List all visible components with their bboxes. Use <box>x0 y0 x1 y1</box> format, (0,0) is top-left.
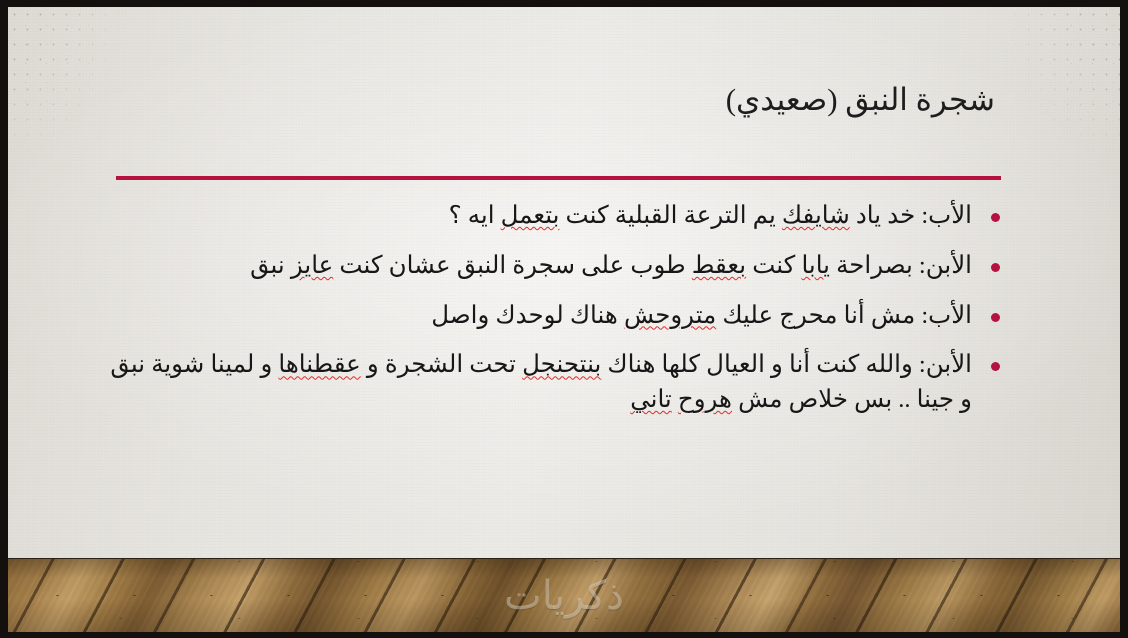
misspelled-word: تاني <box>630 386 672 413</box>
bullet-dot-icon <box>991 263 1000 272</box>
misspelled-word: هروح <box>678 386 732 413</box>
misspelled-word: شايفك <box>782 202 850 229</box>
text-run: الأبن: والله كنت أنا و العيال كلها هناك <box>601 351 972 378</box>
bullet-list: الأب: خد ياد شايفك يم الترعة القبلية كنت… <box>104 199 1000 418</box>
floor-shading <box>8 559 1120 632</box>
wooden-floor: ذكريات <box>8 558 1120 632</box>
text-run: نبق <box>250 252 291 279</box>
misspelled-word: عقطناها <box>278 351 360 378</box>
title-divider <box>116 176 1001 180</box>
text-run: الأب: مش أنا محرج عليك <box>716 302 972 329</box>
bullet-item: الأبن: بصراحة يابا كنت بعقط طوب على سجرة… <box>104 249 1000 284</box>
misspelled-word: يابا <box>801 252 830 279</box>
misspelled-word: عايز <box>291 252 333 279</box>
floor-knots-texture <box>8 559 1120 632</box>
misspelled-word: متروحش <box>624 302 716 329</box>
misspelled-word: بتعمل <box>501 202 560 229</box>
bullet-text: الأبن: بصراحة يابا كنت بعقط طوب على سجرة… <box>250 252 972 279</box>
text-run: يم الترعة القبلية كنت <box>559 202 782 229</box>
bullet-item: الأب: خد ياد شايفك يم الترعة القبلية كنت… <box>104 199 1000 234</box>
bullet-dot-icon <box>991 362 1000 371</box>
bullet-item: الأب: مش أنا محرج عليك متروحش هناك لوحدك… <box>104 299 1000 334</box>
misspelled-word: بعقط <box>692 252 746 279</box>
bullet-text: الأب: خد ياد شايفك يم الترعة القبلية كنت… <box>449 202 972 229</box>
misspelled-word: بنتحنجل <box>522 351 601 378</box>
bullet-dot-icon <box>991 213 1000 222</box>
text-run: كنت <box>746 252 801 279</box>
text-run: تحت الشجرة و <box>361 351 522 378</box>
slide-canvas: شجرة النبق (صعيدي) الأب: خد ياد شايفك يم… <box>8 7 1120 632</box>
text-run: طوب على سجرة النبق عشان كنت <box>333 252 691 279</box>
floor-plank-seams <box>8 558 1120 632</box>
floor-grain-texture <box>8 558 1120 632</box>
bullet-text: الأبن: والله كنت أنا و العيال كلها هناك … <box>110 351 972 413</box>
bullet-item: الأبن: والله كنت أنا و العيال كلها هناك … <box>104 348 1000 418</box>
bullet-dot-icon <box>991 313 1000 322</box>
text-run: الأبن: بصراحة <box>830 252 972 279</box>
text-run: ايه ؟ <box>449 202 501 229</box>
page-title: شجرة النبق (صعيدي) <box>128 81 995 119</box>
bullet-text: الأب: مش أنا محرج عليك متروحش هناك لوحدك… <box>431 302 972 329</box>
floor-watermark: ذكريات <box>8 576 1120 616</box>
text-run: هناك لوحدك واصل <box>431 302 624 329</box>
text-run: الأب: خد ياد <box>850 202 972 229</box>
slide-frame: شجرة النبق (صعيدي) الأب: خد ياد شايفك يم… <box>0 0 1128 638</box>
